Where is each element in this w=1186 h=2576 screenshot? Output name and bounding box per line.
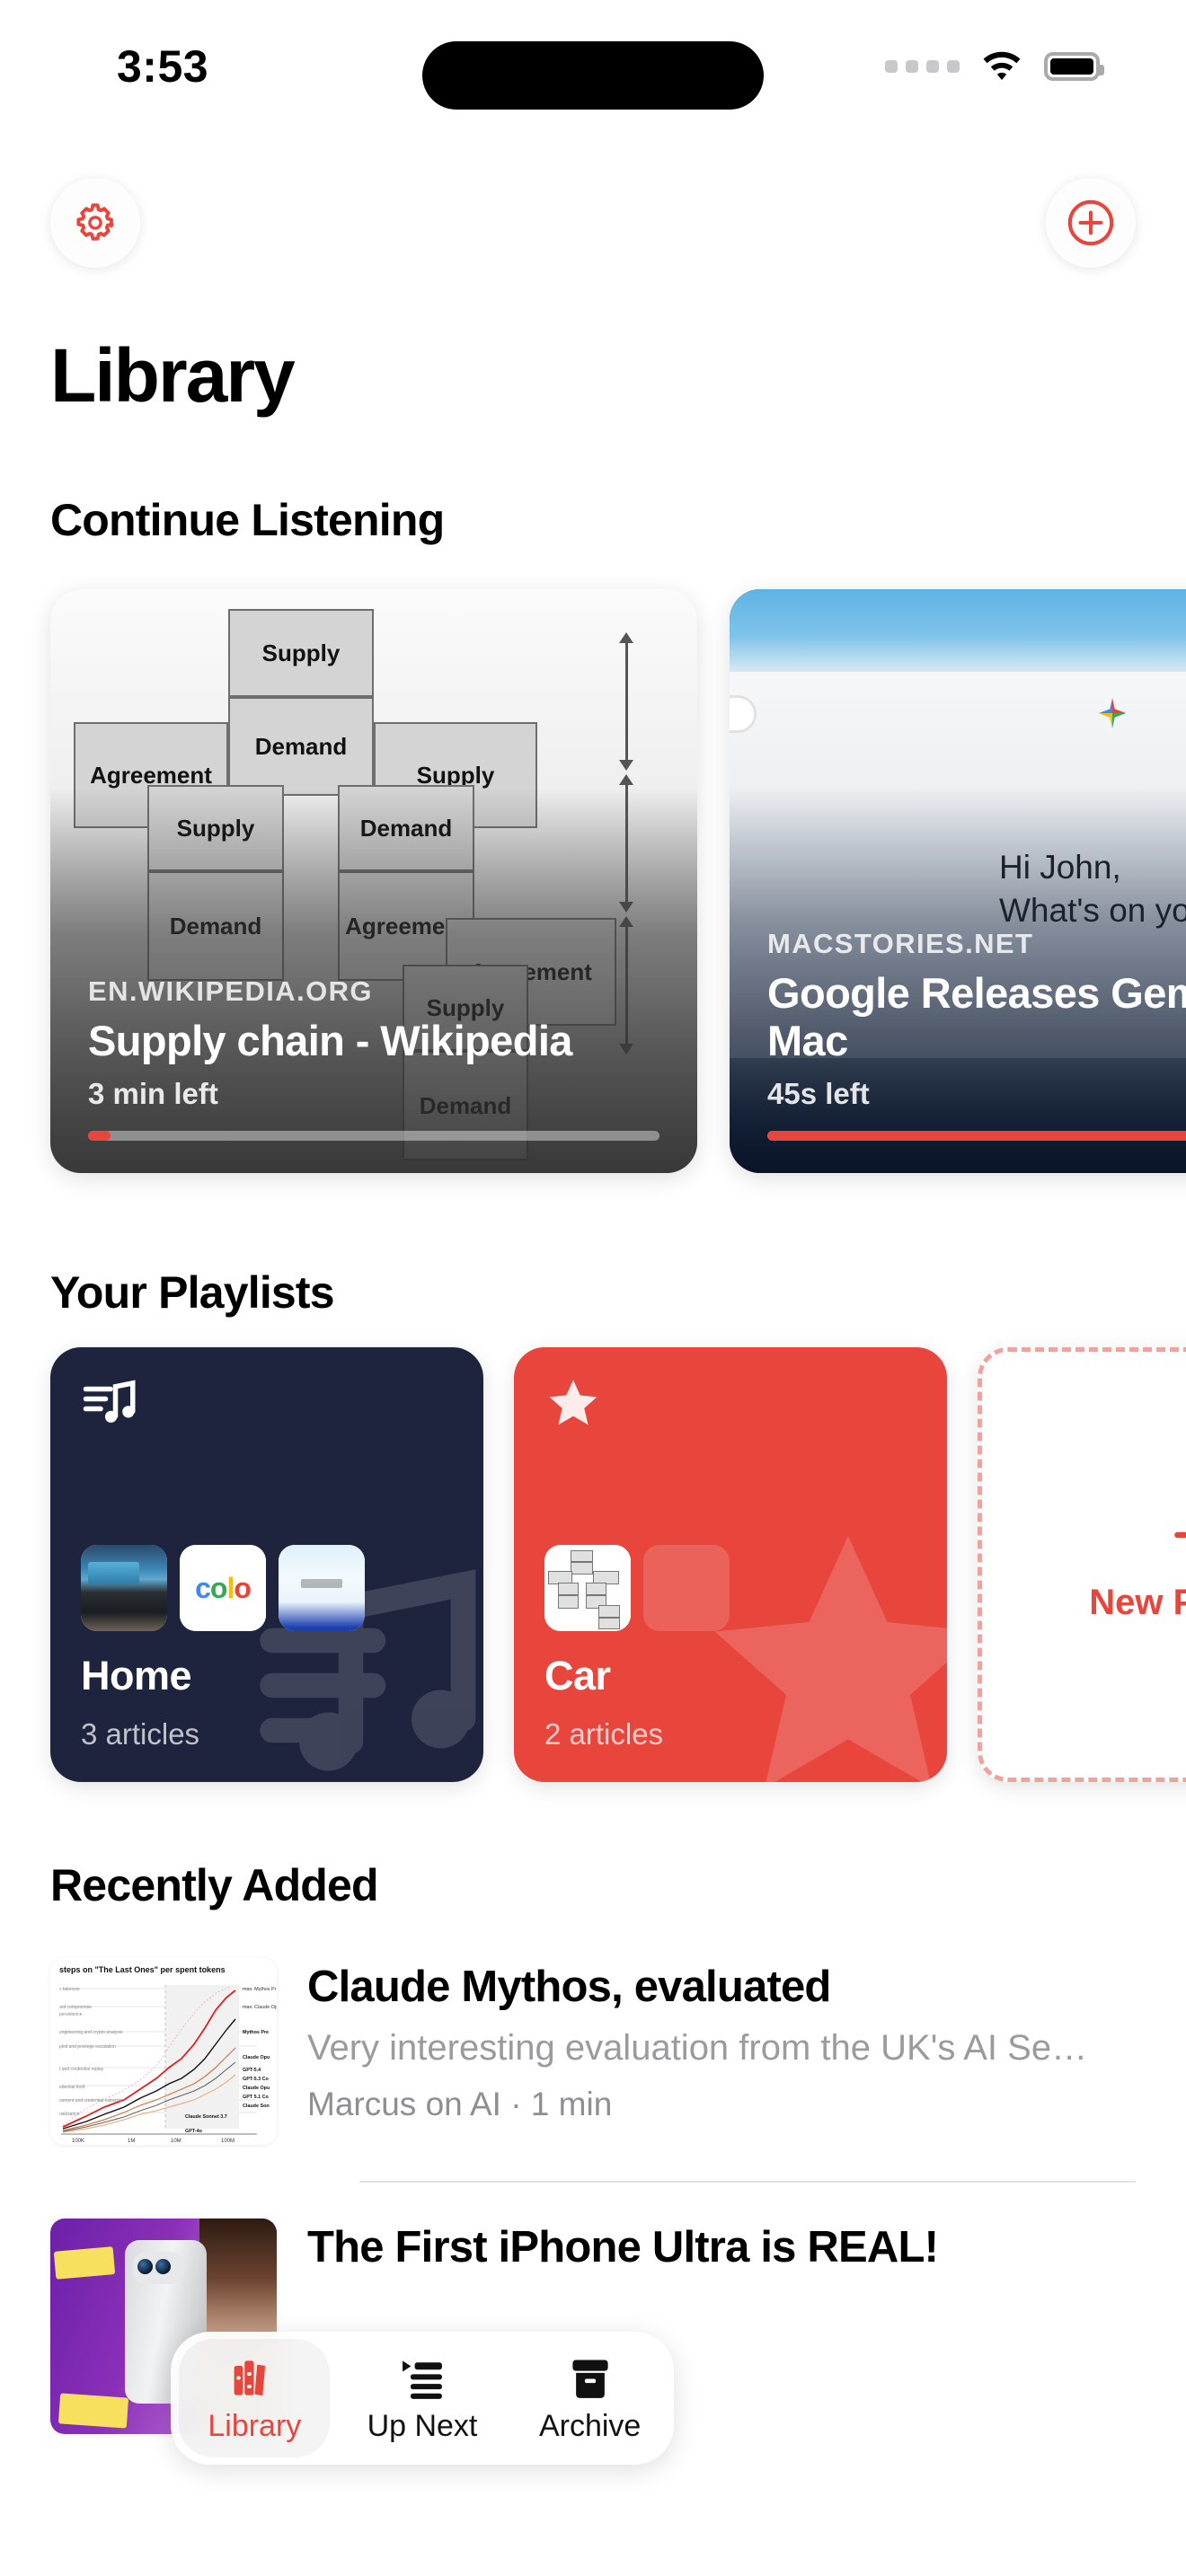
card-meta: EN.WIKIPEDIA.ORG Supply chain - Wikipedi… <box>88 975 659 1141</box>
svg-text:t and credential replay: t and credential replay <box>59 2067 104 2072</box>
time-remaining: 3 min left <box>88 1077 659 1111</box>
svg-text:1M: 1M <box>128 2139 135 2144</box>
article-byline: Marcus on AI · 1 min <box>307 2086 1136 2123</box>
article-title: The First iPhone Ultra is REAL! <box>307 2222 1136 2272</box>
playlist-count: 2 articles <box>544 1717 663 1751</box>
playlist-name: Home <box>81 1653 191 1699</box>
tab-library[interactable]: Library <box>179 2339 330 2457</box>
article-thumbnail-chart: steps on "The Last Ones" per spent token… <box>50 1958 277 2145</box>
section-header-recently-added: Recently Added <box>50 1859 378 1911</box>
section-header-continue-listening: Continue Listening <box>50 494 444 546</box>
status-time: 3:53 <box>117 40 208 93</box>
svg-text:ploit and privilege escalation: ploit and privilege escalation <box>59 2044 116 2050</box>
star-icon <box>544 1374 602 1432</box>
playlist-thumb <box>544 1545 631 1631</box>
svg-text:max. Mythos Pr: max. Mythos Pr <box>243 1987 277 1992</box>
playlist-thumbnails: colo <box>81 1545 365 1631</box>
playlist-name: Car <box>544 1653 611 1699</box>
svg-text:100M: 100M <box>221 2139 235 2144</box>
svg-text:GPT-5.4: GPT-5.4 <box>243 2068 261 2073</box>
article-excerpt: Very interesting evaluation from the UK'… <box>307 2026 1136 2069</box>
svg-text:max. Claude Op: max. Claude Op <box>243 2005 277 2010</box>
continue-listening-card[interactable]: Supply Demand Agreement Supply Supply De… <box>50 589 697 1173</box>
signal-dots-icon <box>885 60 960 73</box>
article-source: MACSTORIES.NET <box>767 928 1186 960</box>
settings-button[interactable] <box>50 178 140 268</box>
progress-bar[interactable] <box>767 1131 1186 1141</box>
playlist-thumb-placeholder <box>643 1545 730 1631</box>
card-meta: MACSTORIES.NET Google Releases Gem for M… <box>767 928 1186 1141</box>
status-bar: 3:53 <box>0 0 1186 133</box>
diagram-box: Demand <box>228 697 374 796</box>
continue-listening-carousel[interactable]: Supply Demand Agreement Supply Supply De… <box>0 582 1186 1180</box>
svg-text:edential theft: edential theft <box>59 2085 85 2090</box>
article-source: EN.WIKIPEDIA.ORG <box>88 975 659 1008</box>
playlist-count: 3 articles <box>81 1717 199 1751</box>
add-button[interactable] <box>1046 178 1136 268</box>
svg-text:c takeover: c takeover <box>59 1987 80 1992</box>
gear-icon <box>72 199 119 246</box>
gemini-sparkle-icon <box>1094 695 1130 731</box>
svg-text:vement and credential extracti: vement and credential extraction <box>59 2098 124 2104</box>
svg-text:GPT 5.1 Co: GPT 5.1 Co <box>243 2095 269 2100</box>
time-remaining: 45s left <box>767 1077 1186 1111</box>
svg-text:Mythos Pre: Mythos Pre <box>243 2030 269 2035</box>
svg-text:Claude Son: Claude Son <box>243 2104 270 2109</box>
diagram-arrow <box>625 641 628 762</box>
svg-text:Claude Sonnet 3.7: Claude Sonnet 3.7 <box>185 2114 227 2120</box>
tab-archive[interactable]: Archive <box>515 2339 666 2457</box>
svg-text:Claude Opu: Claude Opu <box>243 2086 270 2091</box>
nav-bar <box>0 176 1186 269</box>
progress-bar[interactable] <box>88 1131 659 1141</box>
svg-text:naissance: naissance <box>59 2112 80 2117</box>
playlist-thumb <box>279 1545 365 1631</box>
playlist-card-home[interactable]: colo Home 3 articles <box>50 1347 483 1782</box>
plus-icon <box>1165 1506 1186 1564</box>
playlists-carousel[interactable]: colo Home 3 articles <box>0 1338 1186 1796</box>
tab-label: Library <box>208 2409 301 2444</box>
plus-circle-icon <box>1065 197 1117 249</box>
play-list-icon <box>397 2353 447 2404</box>
status-indicators <box>885 50 1100 83</box>
page-title: Library <box>50 332 294 419</box>
article-title: Google Releases Gem for Mac <box>767 969 1186 1064</box>
list-divider <box>359 2181 1136 2183</box>
section-header-your-playlists: Your Playlists <box>50 1266 334 1319</box>
tab-label: Up Next <box>367 2409 478 2444</box>
svg-text:engineering and crypto analysi: engineering and crypto analysis <box>59 2030 123 2035</box>
svg-text:10M: 10M <box>171 2139 181 2144</box>
playlist-thumb: colo <box>180 1545 266 1631</box>
diagram-box: Supply <box>228 609 374 697</box>
tab-up-next[interactable]: Up Next <box>347 2339 498 2457</box>
tab-label: Archive <box>539 2409 641 2444</box>
new-playlist-label: New Playlist <box>1089 1583 1186 1623</box>
archive-box-icon <box>565 2353 615 2404</box>
music-note-list-icon <box>81 1374 140 1434</box>
books-icon <box>229 2353 279 2404</box>
battery-full-icon <box>1044 52 1100 81</box>
new-playlist-button[interactable]: New Playlist <box>978 1347 1186 1782</box>
playlist-thumbnails <box>544 1545 730 1631</box>
dynamic-island <box>422 41 764 110</box>
svg-text:ard compromise: ard compromise <box>59 2005 92 2010</box>
article-title: Supply chain - Wikipedia <box>88 1017 659 1064</box>
svg-text:GPT-5.3 Co: GPT-5.3 Co <box>243 2077 269 2082</box>
svg-text:persistence: persistence <box>59 2012 83 2017</box>
playlist-card-car[interactable]: Car 2 articles <box>514 1347 947 1782</box>
svg-text:GPT-4o: GPT-4o <box>185 2129 203 2134</box>
tab-bar: Library Up Next Archive <box>171 2332 674 2465</box>
continue-listening-card[interactable]: Hi John, What's on your mind? MACSTORIES… <box>730 589 1186 1173</box>
svg-text:100K: 100K <box>72 2139 84 2144</box>
svg-text:Claude Opu: Claude Opu <box>243 2055 270 2060</box>
article-list-item[interactable]: steps on "The Last Ones" per spent token… <box>0 1958 1186 2145</box>
playlist-thumb <box>81 1545 167 1631</box>
svg-text:steps on "The Last Ones" per s: steps on "The Last Ones" per spent token… <box>59 1965 226 1974</box>
wifi-icon <box>979 50 1024 83</box>
article-title: Claude Mythos, evaluated <box>307 1962 1136 2012</box>
